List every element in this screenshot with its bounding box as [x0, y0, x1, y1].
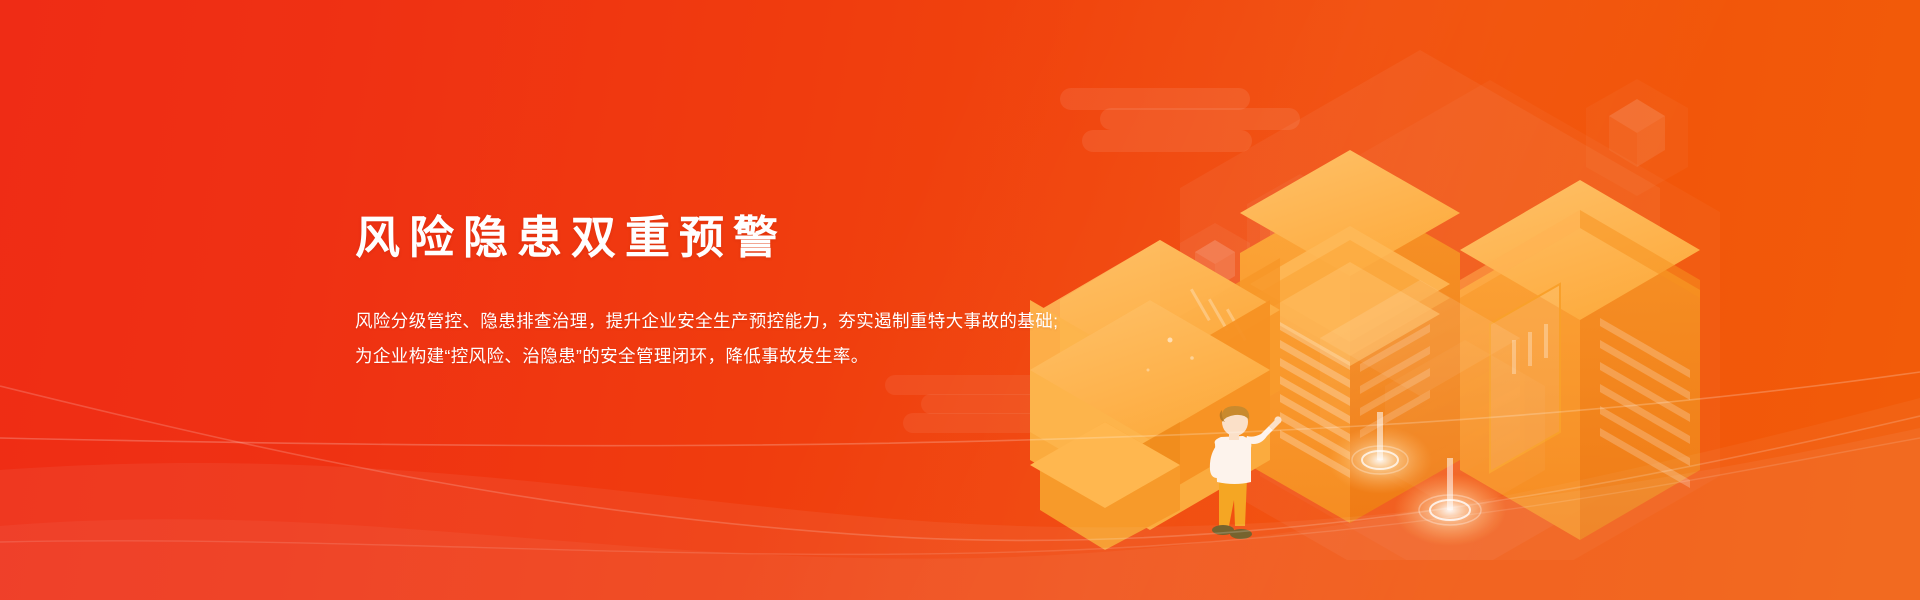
tower-right — [1460, 180, 1700, 540]
banner-subtitle-line-1: 风险分级管控、隐患排查治理，提升企业安全生产预控能力，夯实遏制重特大事故的基础; — [355, 304, 1195, 339]
tower-center — [1240, 150, 1460, 523]
beacon-right-icon — [1394, 458, 1506, 546]
banner-subtitle: 风险分级管控、隐患排查治理，提升企业安全生产预控能力，夯实遏制重特大事故的基础;… — [355, 304, 1195, 374]
banner-copy: 风险隐患双重预警 风险分级管控、隐患排查治理，提升企业安全生产预控能力，夯实遏制… — [355, 210, 1195, 374]
block-small-front — [1030, 422, 1180, 550]
person-pointing-illustration — [1185, 400, 1295, 550]
cloud-mid-left-icon — [885, 375, 1090, 433]
cloud-top-right-icon — [1060, 88, 1270, 158]
hex-cube-top-right-icon — [1580, 75, 1695, 200]
hero-banner: 风险隐患双重预警 风险分级管控、隐患排查治理，提升企业安全生产预控能力，夯实遏制… — [0, 0, 1920, 600]
banner-subtitle-line-2: 为企业构建“控风险、治隐患”的安全管理闭环，降低事故发生率。 — [355, 339, 1195, 374]
ghost-cubes — [1320, 280, 1545, 516]
banner-title: 风险隐患双重预警 — [355, 210, 1195, 266]
hex-cube-large-icon — [1240, 170, 1360, 302]
beacon-left-icon — [1328, 412, 1432, 494]
